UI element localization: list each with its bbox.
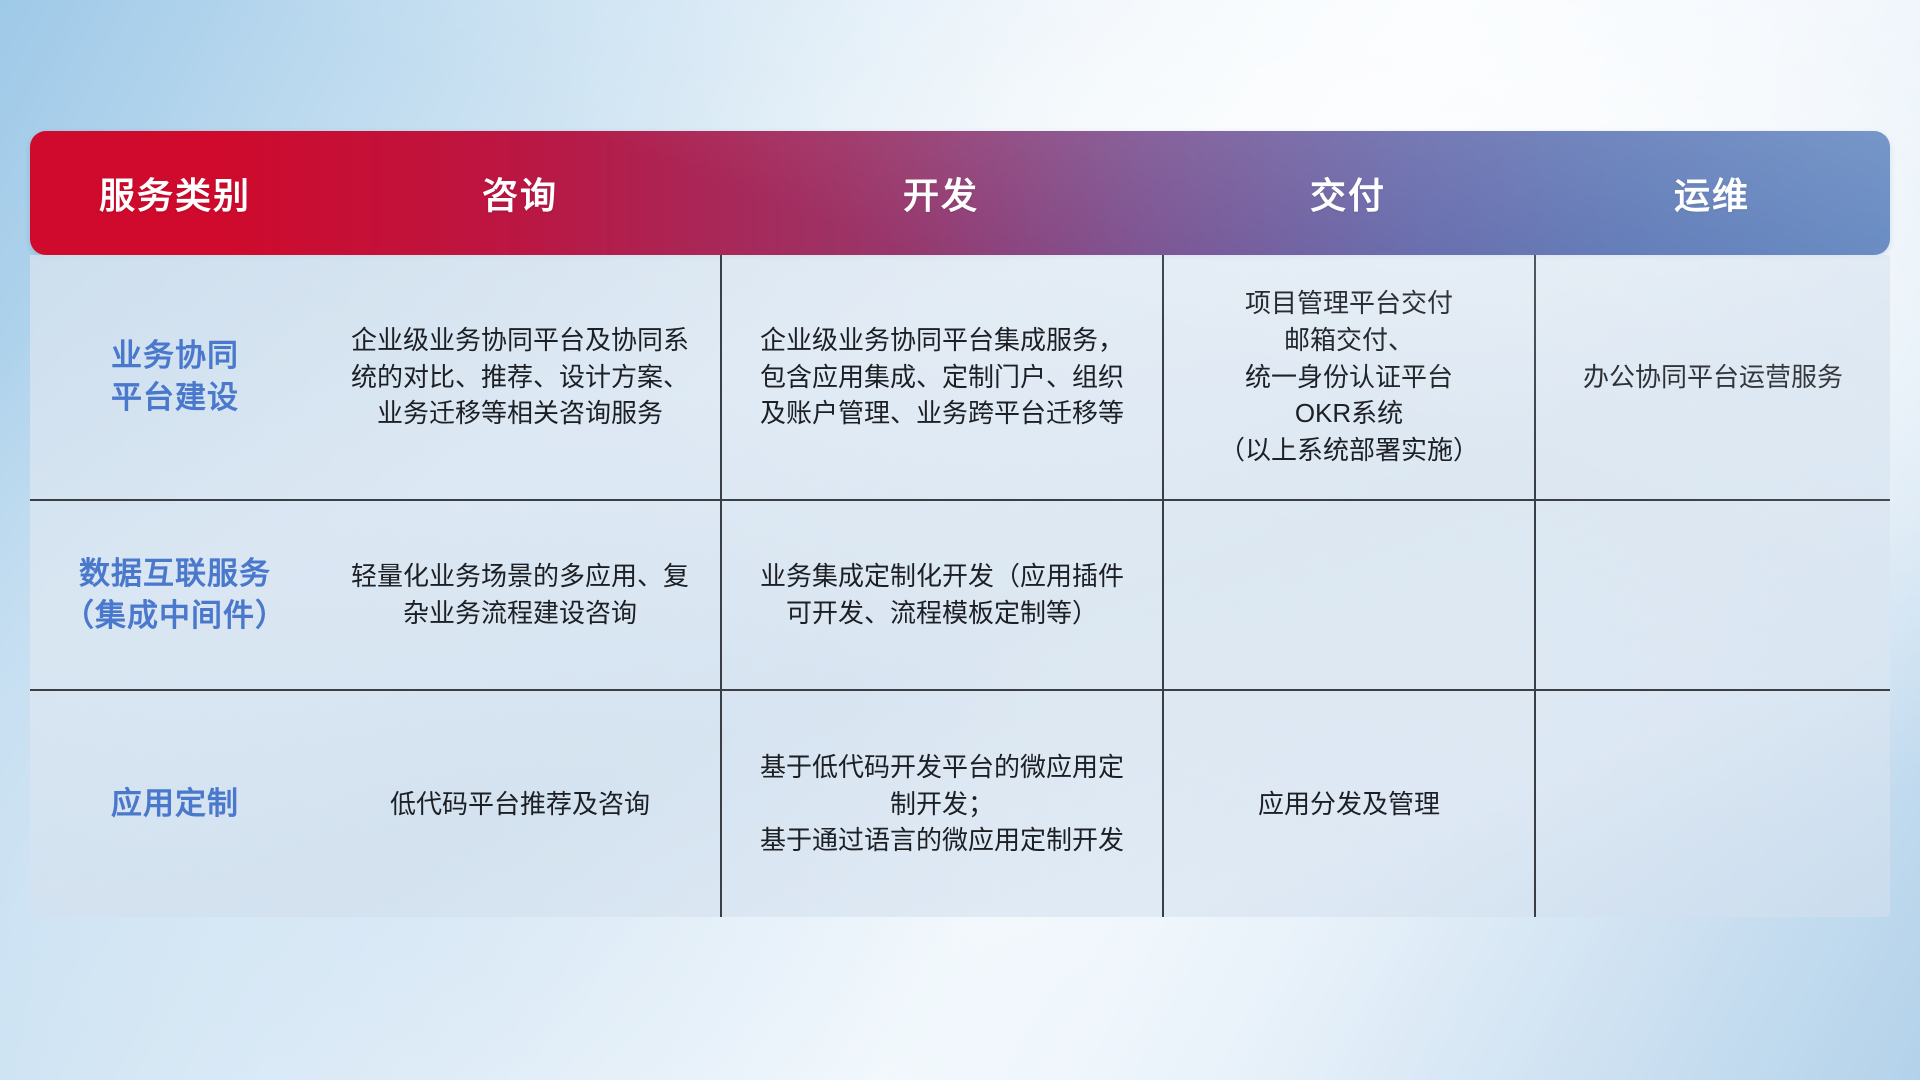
table-row: 业务协同 平台建设 企业级业务协同平台及协同系 统的对比、推荐、设计方案、 业务… (30, 255, 1890, 499)
cell-operations (1534, 501, 1890, 689)
table-header-row: 服务类别 咨询 开发 交付 运维 (30, 131, 1890, 255)
cell-delivery (1162, 501, 1534, 689)
cell-consulting: 轻量化业务场景的多应用、复 杂业务流程建设咨询 (320, 501, 720, 689)
cell-operations: 办公协同平台运营服务 (1534, 255, 1890, 499)
cell-development: 企业级业务协同平台集成服务， 包含应用集成、定制门户、组织 及账户管理、业务跨平… (720, 255, 1162, 499)
table-row: 数据互联服务 （集成中间件） 轻量化业务场景的多应用、复 杂业务流程建设咨询 业… (30, 499, 1890, 689)
row-category-label: 数据互联服务 （集成中间件） (30, 501, 320, 689)
column-header-delivery: 交付 (1162, 131, 1534, 255)
service-category-table: 服务类别 咨询 开发 交付 运维 业务协同 平台建设 企业级业务协同平台及协同系… (30, 131, 1890, 917)
column-header-development: 开发 (720, 131, 1162, 255)
cell-consulting: 低代码平台推荐及咨询 (320, 691, 720, 917)
table-body: 业务协同 平台建设 企业级业务协同平台及协同系 统的对比、推荐、设计方案、 业务… (30, 255, 1890, 917)
cell-delivery: 应用分发及管理 (1162, 691, 1534, 917)
cell-operations (1534, 691, 1890, 917)
slide-canvas: 服务类别 咨询 开发 交付 运维 业务协同 平台建设 企业级业务协同平台及协同系… (0, 0, 1920, 1080)
column-header-operations: 运维 (1534, 131, 1890, 255)
cell-development: 业务集成定制化开发（应用插件 可开发、流程模板定制等） (720, 501, 1162, 689)
row-category-label: 应用定制 (30, 691, 320, 917)
cell-consulting: 企业级业务协同平台及协同系 统的对比、推荐、设计方案、 业务迁移等相关咨询服务 (320, 255, 720, 499)
table-row: 应用定制 低代码平台推荐及咨询 基于低代码开发平台的微应用定 制开发； 基于通过… (30, 689, 1890, 917)
column-header-consulting: 咨询 (320, 131, 720, 255)
cell-delivery: 项目管理平台交付 邮箱交付、 统一身份认证平台 OKR系统 （以上系统部署实施） (1162, 255, 1534, 499)
cell-development: 基于低代码开发平台的微应用定 制开发； 基于通过语言的微应用定制开发 (720, 691, 1162, 917)
column-header-category: 服务类别 (30, 131, 320, 255)
row-category-label: 业务协同 平台建设 (30, 255, 320, 499)
